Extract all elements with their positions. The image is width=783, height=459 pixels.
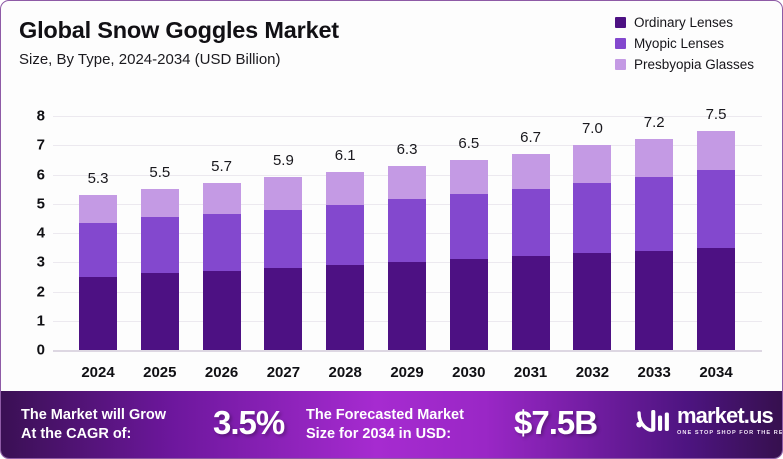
bar-segment[interactable] xyxy=(203,183,241,214)
x-axis-tick-label: 2027 xyxy=(252,364,314,381)
y-axis-tick-label: 2 xyxy=(19,283,45,300)
logo-name: market.us xyxy=(677,405,783,427)
y-axis-tick-label: 3 xyxy=(19,254,45,271)
stacked-bar[interactable] xyxy=(264,177,302,350)
x-axis-tick-label: 2025 xyxy=(129,364,191,381)
x-axis-tick-label: 2028 xyxy=(314,364,376,381)
stacked-bar[interactable] xyxy=(203,183,241,350)
x-axis-tick-label: 2034 xyxy=(685,364,747,381)
x-axis-tick-label: 2032 xyxy=(561,364,623,381)
x-axis-tick-label: 2029 xyxy=(376,364,438,381)
x-axis-tick-label: 2033 xyxy=(623,364,685,381)
bar-value-label: 7.2 xyxy=(624,114,684,131)
bar-value-label: 6.7 xyxy=(501,129,561,146)
forecast-label-line2: Size for 2034 in USD: xyxy=(306,425,464,444)
market-us-logo-mark xyxy=(636,406,670,436)
bar-segment[interactable] xyxy=(203,214,241,271)
bar-segment[interactable] xyxy=(573,183,611,253)
y-axis-tick-label: 0 xyxy=(19,342,45,359)
market-us-logo[interactable]: market.us ONE STOP SHOP FOR THE REPORTS xyxy=(636,405,783,436)
bar-value-label: 7.5 xyxy=(686,106,746,123)
x-axis-tick-label: 2031 xyxy=(500,364,562,381)
bar-value-label: 6.3 xyxy=(377,141,437,158)
legend-label: Ordinary Lenses xyxy=(634,15,733,30)
stacked-bar[interactable] xyxy=(697,131,735,350)
bar-segment[interactable] xyxy=(326,205,364,265)
legend-item[interactable]: Myopic Lenses xyxy=(615,36,754,51)
logo-tagline: ONE STOP SHOP FOR THE REPORTS xyxy=(677,430,783,436)
bar-segment[interactable] xyxy=(326,172,364,206)
forecast-value: $7.5B xyxy=(514,404,597,442)
x-axis-tick-label: 2026 xyxy=(191,364,253,381)
x-axis-tick-label: 2030 xyxy=(438,364,500,381)
bar-segment[interactable] xyxy=(264,210,302,269)
y-axis-tick-label: 6 xyxy=(19,166,45,183)
bar-segment[interactable] xyxy=(512,154,550,189)
bar-value-label: 5.9 xyxy=(253,152,313,169)
market-us-logo-text: market.us ONE STOP SHOP FOR THE REPORTS xyxy=(677,405,783,436)
bar-value-label: 5.7 xyxy=(192,158,252,175)
bar-segment[interactable] xyxy=(326,265,364,350)
stacked-bar[interactable] xyxy=(79,195,117,350)
stacked-bar[interactable] xyxy=(326,172,364,350)
cagr-label-line1: The Market will Grow xyxy=(21,406,166,425)
stacked-bar[interactable] xyxy=(450,160,488,350)
chart-card: Global Snow Goggles Market Size, By Type… xyxy=(0,0,783,459)
bar-segment[interactable] xyxy=(635,139,673,177)
chart-subtitle: Size, By Type, 2024-2034 (USD Billion) xyxy=(19,51,281,68)
bar-segment[interactable] xyxy=(573,145,611,183)
bar-segment[interactable] xyxy=(450,160,488,194)
bar-segment[interactable] xyxy=(203,271,241,350)
bar-segment[interactable] xyxy=(388,262,426,350)
bar-segment[interactable] xyxy=(79,223,117,277)
chart-plot-area: 0123456785.320245.520255.720265.920276.1… xyxy=(1,101,783,359)
bar-segment[interactable] xyxy=(697,248,735,350)
legend-label: Presbyopia Glasses xyxy=(634,57,754,72)
bar-segment[interactable] xyxy=(635,251,673,350)
bar-segment[interactable] xyxy=(141,273,179,351)
forecast-label: The Forecasted Market Size for 2034 in U… xyxy=(306,406,464,443)
bar-segment[interactable] xyxy=(141,217,179,273)
footer-banner: The Market will Grow At the CAGR of: 3.5… xyxy=(1,391,782,458)
bar-segment[interactable] xyxy=(512,189,550,256)
x-axis-baseline xyxy=(53,350,762,352)
stacked-bar[interactable] xyxy=(141,189,179,350)
bar-value-label: 6.1 xyxy=(315,147,375,164)
bar-segment[interactable] xyxy=(79,195,117,223)
bar-value-label: 7.0 xyxy=(562,120,622,137)
legend-swatch-icon xyxy=(615,17,626,28)
y-axis-tick-label: 7 xyxy=(19,137,45,154)
x-axis-tick-label: 2024 xyxy=(67,364,129,381)
bar-segment[interactable] xyxy=(697,170,735,248)
legend-item[interactable]: Presbyopia Glasses xyxy=(615,57,754,72)
bar-segment[interactable] xyxy=(573,253,611,350)
y-axis-tick-label: 8 xyxy=(19,108,45,125)
bar-segment[interactable] xyxy=(635,177,673,250)
bar-segment[interactable] xyxy=(450,259,488,350)
cagr-label: The Market will Grow At the CAGR of: xyxy=(21,406,166,443)
cagr-label-line2: At the CAGR of: xyxy=(21,425,166,444)
bar-segment[interactable] xyxy=(264,177,302,209)
forecast-label-line1: The Forecasted Market xyxy=(306,406,464,425)
legend-swatch-icon xyxy=(615,59,626,70)
bar-segment[interactable] xyxy=(450,194,488,260)
bar-value-label: 6.5 xyxy=(439,135,499,152)
legend-swatch-icon xyxy=(615,38,626,49)
stacked-bar[interactable] xyxy=(388,166,426,350)
legend-item[interactable]: Ordinary Lenses xyxy=(615,15,754,30)
bar-segment[interactable] xyxy=(264,268,302,350)
y-axis-tick-label: 4 xyxy=(19,225,45,242)
stacked-bar[interactable] xyxy=(635,139,673,350)
bar-segment[interactable] xyxy=(79,277,117,350)
chart-legend: Ordinary LensesMyopic LensesPresbyopia G… xyxy=(615,15,754,72)
bar-segment[interactable] xyxy=(512,256,550,350)
stacked-bar[interactable] xyxy=(573,145,611,350)
bar-value-label: 5.3 xyxy=(68,170,128,187)
y-axis-tick-label: 5 xyxy=(19,195,45,212)
y-axis-tick-label: 1 xyxy=(19,312,45,329)
bar-value-label: 5.5 xyxy=(130,164,190,181)
legend-label: Myopic Lenses xyxy=(634,36,724,51)
bar-segment[interactable] xyxy=(697,131,735,170)
cagr-value: 3.5% xyxy=(213,404,284,442)
bar-segment[interactable] xyxy=(388,166,426,200)
bar-segment[interactable] xyxy=(388,199,426,262)
stacked-bar[interactable] xyxy=(512,154,550,350)
page-title: Global Snow Goggles Market xyxy=(19,17,339,44)
bar-segment[interactable] xyxy=(141,189,179,217)
